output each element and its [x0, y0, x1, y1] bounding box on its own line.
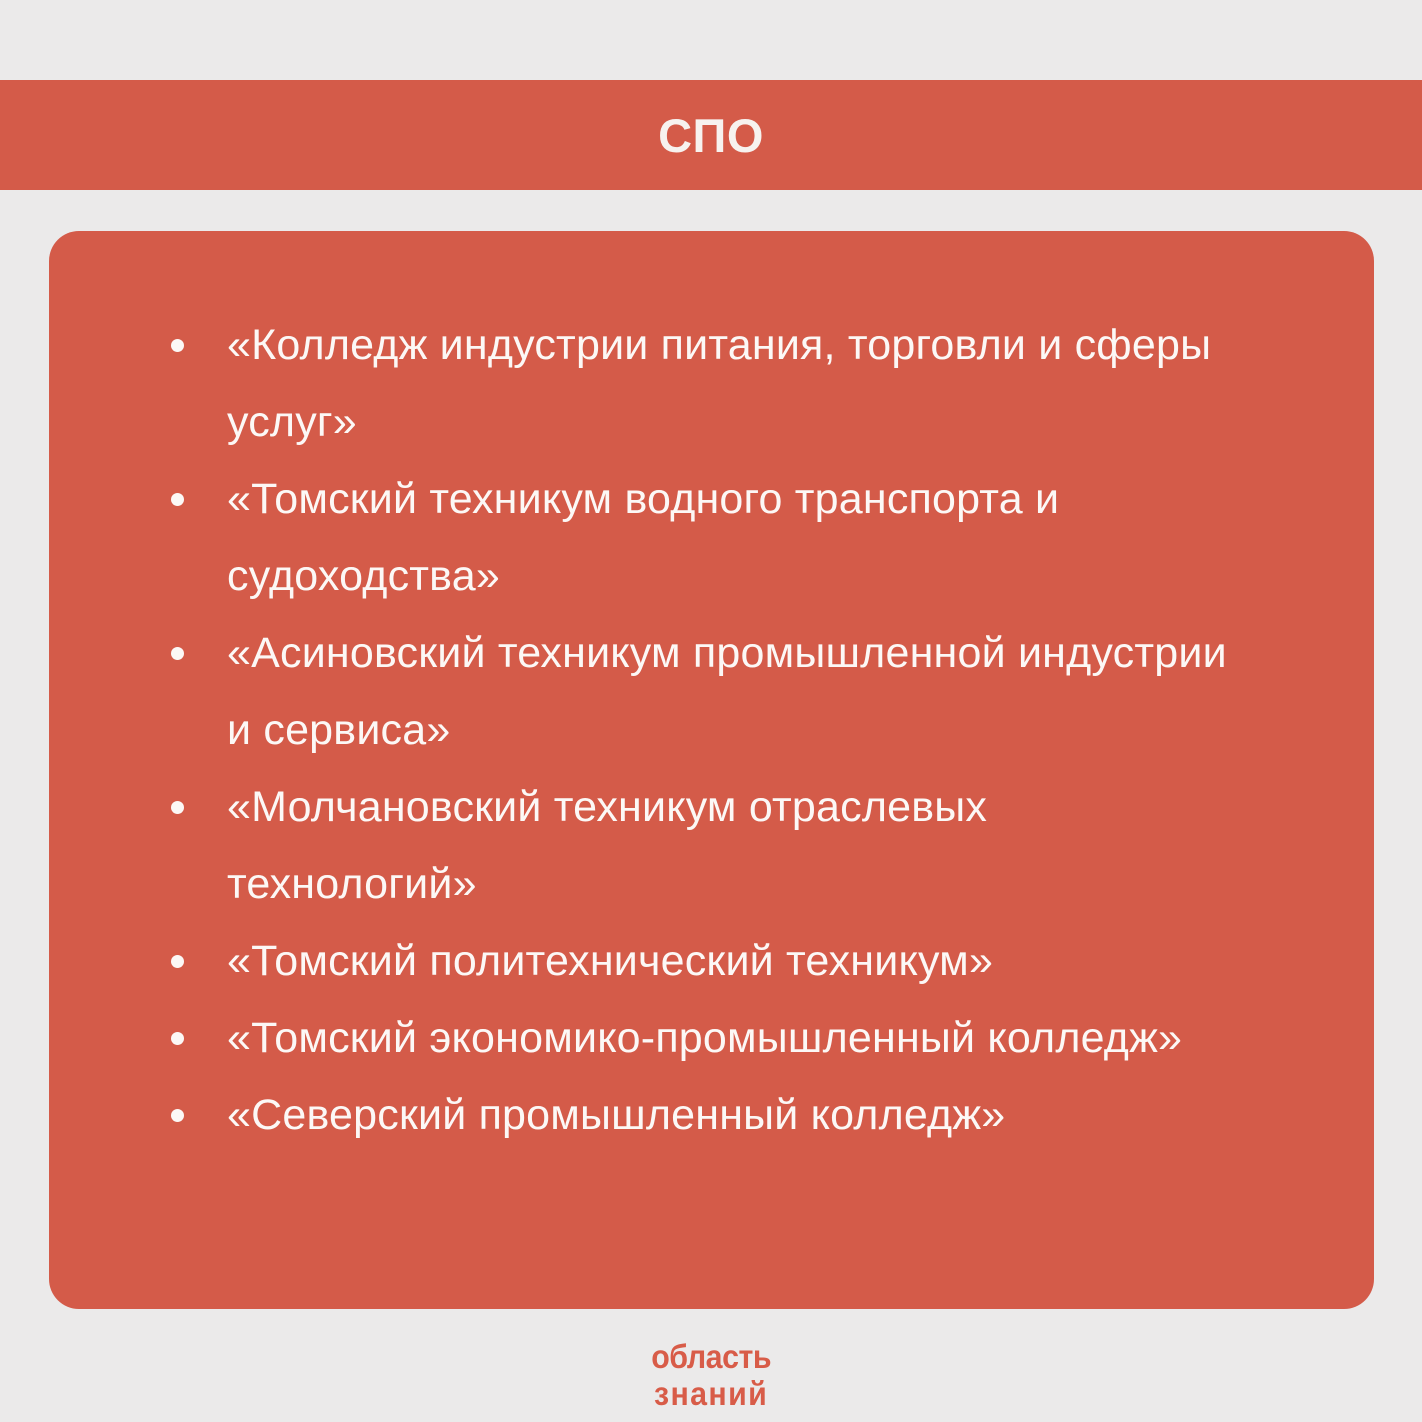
list-item: «Колледж индустрии питания, торговли и с… — [159, 307, 1232, 461]
bullet-dot-icon — [171, 1032, 184, 1045]
list-item: «Асиновский техникум промышленной индуст… — [159, 615, 1232, 769]
header-band: СПО — [0, 80, 1422, 190]
brand-logo-line-2: знаний — [654, 1375, 768, 1412]
bullet-dot-icon — [171, 493, 184, 506]
list-item-label: «Асиновский техникум промышленной индуст… — [227, 629, 1227, 754]
list-item-label: «Северский промышленный колледж» — [227, 1091, 1005, 1139]
slide-root: СПО «Колледж индустрии питания, торговли… — [0, 0, 1422, 1422]
bullet-dot-icon — [171, 647, 184, 660]
content-card: «Колледж индустрии питания, торговли и с… — [49, 231, 1374, 1309]
list-item-label: «Томский техникум водного транспорта и с… — [227, 475, 1059, 600]
institution-list: «Колледж индустрии питания, торговли и с… — [159, 307, 1314, 1154]
page-title: СПО — [658, 112, 764, 159]
brand-logo-line-1: область — [651, 1338, 771, 1375]
list-item-label: «Колледж индустрии питания, торговли и с… — [227, 321, 1211, 446]
bullet-dot-icon — [171, 801, 184, 814]
list-item: «Томский техникум водного транспорта и с… — [159, 461, 1232, 615]
bullet-dot-icon — [171, 339, 184, 352]
list-item: «Томский политехнический техникум» — [159, 923, 1232, 1000]
list-item-label: «Молчановский техникум отраслевых технол… — [227, 783, 987, 908]
list-item-label: «Томский экономико-промышленный колледж» — [227, 1014, 1182, 1062]
list-item: «Северский промышленный колледж» — [159, 1077, 1232, 1154]
list-item: «Молчановский техникум отраслевых технол… — [159, 769, 1232, 923]
list-item-label: «Томский политехнический техникум» — [227, 937, 993, 985]
footer: область знаний — [0, 1338, 1422, 1412]
list-item: «Томский экономико-промышленный колледж» — [159, 1000, 1232, 1077]
bullet-dot-icon — [171, 1109, 184, 1122]
bullet-dot-icon — [171, 955, 184, 968]
